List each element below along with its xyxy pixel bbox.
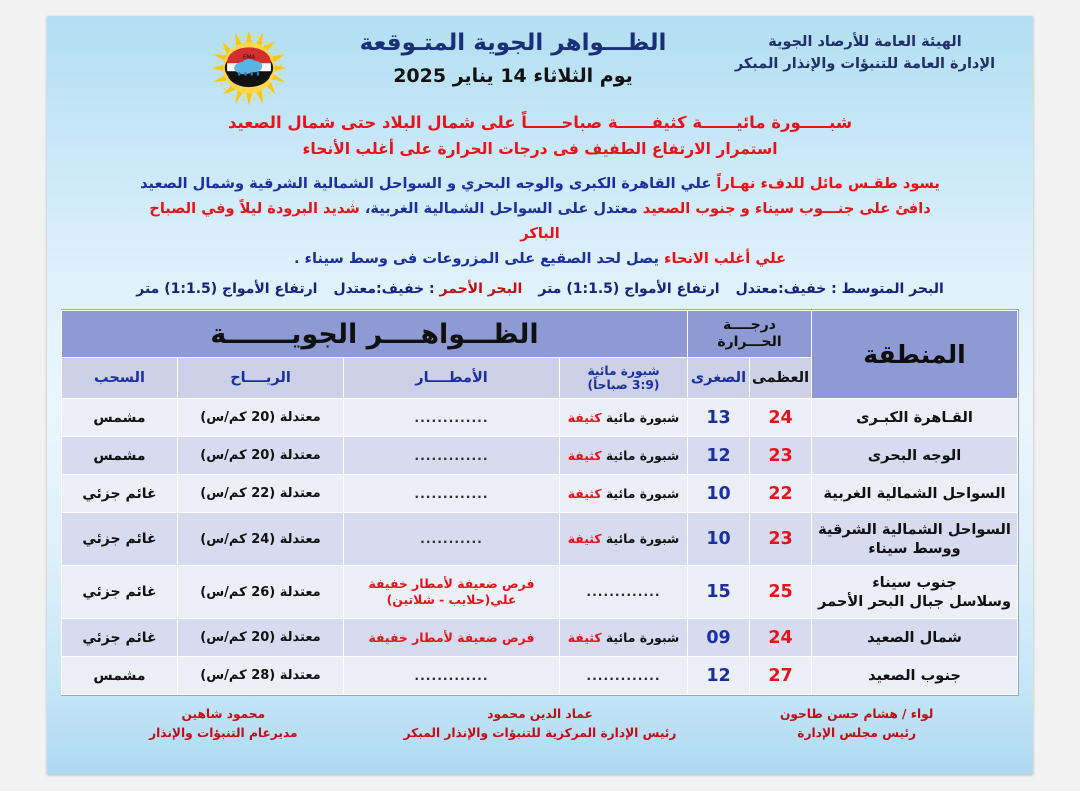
cell-fog: ............. (560, 657, 688, 695)
mediterranean-waves: ارتفاع الأمواج (1:1.5) متر (538, 281, 719, 297)
cell-region: جنوب الصعيد (812, 657, 1018, 695)
cell-rain: فرص ضعيفة لأمطار خفيفة (344, 619, 560, 657)
cell-min-temp: 15 (688, 566, 750, 619)
cell-wind: معتدلة (24 كم/س) (178, 513, 344, 566)
table-header-groups: المنطقة درجــــة الحـــرارة الظـــواهـــ… (61, 311, 1017, 358)
cell-max-temp: 27 (750, 657, 812, 695)
right-signer-role: مديرعام التنبؤات والإنذار (65, 724, 382, 743)
cell-fog: شبورة مائية كثيفة (560, 619, 688, 657)
cell-region: القـاهرة الكبـرى (812, 399, 1018, 437)
desc-1-blue: علي القاهرة الكبرى والوجه البحري و السوا… (140, 175, 716, 192)
column-header-cloud: السحب (61, 358, 177, 399)
cell-rain: ............. (344, 437, 560, 475)
right-signer-name: محمود شاهين (65, 705, 382, 724)
cell-wind: معتدلة (28 كم/س) (178, 657, 344, 695)
cell-max-temp: 24 (750, 399, 812, 437)
cell-fog: شبورة مائية كثيفة (560, 437, 688, 475)
table-row: السواحل الشمالية الغربية2210شبورة مائية … (61, 475, 1017, 513)
cell-rain: ............. (344, 657, 560, 695)
forecast-date: يوم الثلاثاء 14 يناير 2025 (303, 65, 723, 87)
cell-min-temp: 12 (688, 657, 750, 695)
mediterranean-label: البحر المتوسط : خفيف:معتدل (736, 281, 944, 297)
cell-max-temp: 23 (750, 513, 812, 566)
column-header-min-temp: الصغرى (688, 358, 750, 399)
warning-block: شبـــــورة مائيــــــة كثيفــــــة صباحـ… (47, 110, 1033, 162)
cell-cloud: غائم جزئي (61, 475, 177, 513)
cell-region: السواحل الشمالية الشرقيةووسط سيناء (812, 513, 1018, 566)
cell-min-temp: 10 (688, 475, 750, 513)
description-line-3: علي أغلب الانحاء يصل لحد الصقيع على المز… (135, 246, 945, 271)
cell-cloud: مشمس (61, 657, 177, 695)
org-line-1: الهيئة العامة للأرصاد الجوية (715, 32, 1015, 54)
table-row: القـاهرة الكبـرى2413شبورة مائية كثيفة...… (61, 399, 1017, 437)
cell-region: جنوب سيناءوسلاسل جبال البحر الأحمر (812, 566, 1018, 619)
signature-left: لواء / هشام حسن طاحون رئيس مجلس الإدارة (698, 705, 1015, 743)
desc-2-red: دافئ على جنـــوب سيناء و جنوب الصعيد (643, 200, 931, 217)
cell-region: الوجه البحرى (812, 437, 1018, 475)
redsea-waves: ارتفاع الأمواج (1:1.5) متر (136, 281, 317, 297)
fog-header-line-1: شبورة مائية (560, 364, 687, 379)
redsea-state: : خفيف:معتدل (333, 281, 439, 297)
description-line-1: يسود طقـس مائل للدفء نهـاراً علي القاهرة… (135, 171, 945, 196)
forecast-table-wrapper: المنطقة درجــــة الحـــرارة الظـــواهـــ… (61, 309, 1019, 696)
column-header-max-temp: العظمى (750, 358, 812, 399)
cell-wind: معتدلة (20 كم/س) (178, 619, 344, 657)
org-line-2: الإدارة العامة للتنبؤات والإنذار المبكر (715, 54, 1015, 76)
cell-wind: معتدلة (20 كم/س) (178, 437, 344, 475)
cell-fog: شبورة مائية كثيفة (560, 513, 688, 566)
cell-region: السواحل الشمالية الغربية (812, 475, 1018, 513)
ema-sun-cloud-logo: EMA (210, 29, 288, 107)
page-title: الظـــواهر الجوية المتـوقعة (303, 30, 723, 56)
cell-wind: معتدلة (26 كم/س) (178, 566, 344, 619)
cell-min-temp: 13 (688, 399, 750, 437)
desc-3-red: علي أغلب الانحاء (664, 250, 786, 267)
svg-text:EMA: EMA (243, 55, 255, 61)
temp-group-line-2: الحـــرارة (688, 334, 811, 351)
desc-2-blue: معتدل على السواحل الشمالية الغربية، (360, 200, 643, 217)
cell-cloud: غائم جزئي (61, 513, 177, 566)
cell-rain: ............. (344, 399, 560, 437)
column-group-temperature: درجــــة الحـــرارة (688, 311, 812, 358)
cell-min-temp: 09 (688, 619, 750, 657)
column-header-rain: الأمطــــار (344, 358, 560, 399)
cell-fog: شبورة مائية كثيفة (560, 399, 688, 437)
table-head: المنطقة درجــــة الحـــرارة الظـــواهـــ… (61, 311, 1017, 399)
cell-rain: ........... (344, 513, 560, 566)
redsea-label: البحر الأحمر (440, 281, 523, 297)
cell-min-temp: 12 (688, 437, 750, 475)
table-body: القـاهرة الكبـرى2413شبورة مائية كثيفة...… (61, 399, 1017, 695)
table-row: شمال الصعيد2409شبورة مائية كثيفةفرص ضعيف… (61, 619, 1017, 657)
cell-cloud: مشمس (61, 437, 177, 475)
column-group-phenomena: الظـــواهــــر الجويـــــــة (61, 311, 687, 358)
title-block: الظـــواهر الجوية المتـوقعة يوم الثلاثاء… (303, 30, 723, 87)
cell-cloud: مشمس (61, 399, 177, 437)
document-header: الهيئة العامة للأرصاد الجوية الإدارة الع… (47, 16, 1033, 108)
column-header-wind: الريــــاح (178, 358, 344, 399)
cell-max-temp: 22 (750, 475, 812, 513)
signature-center: عماد الدين محمود رئيس الإدارة المركزية ل… (382, 705, 699, 743)
cell-fog: شبورة مائية كثيفة (560, 475, 688, 513)
cell-cloud: غائم جزئي (61, 619, 177, 657)
description-line-2: دافئ على جنـــوب سيناء و جنوب الصعيد معت… (135, 196, 945, 246)
warning-line-2: استمرار الارتفاع الطفيف فى درجات الحرارة… (87, 137, 993, 162)
desc-1-red: يسود طقـس مائل للدفء نهـاراً (716, 175, 939, 192)
column-header-region: المنطقة (812, 311, 1018, 399)
table-row: الوجه البحرى2312شبورة مائية كثيفة.......… (61, 437, 1017, 475)
column-header-fog: شبورة مائية (3:9 صباحاً) (560, 358, 688, 399)
cell-fog: ............. (560, 566, 688, 619)
center-signer-name: عماد الدين محمود (382, 705, 699, 724)
cell-max-temp: 23 (750, 437, 812, 475)
sea-conditions: البحر المتوسط : خفيف:معتدلارتفاع الأمواج… (47, 281, 1033, 297)
warning-line-1: شبـــــورة مائيــــــة كثيفــــــة صباحـ… (87, 110, 993, 137)
cell-max-temp: 24 (750, 619, 812, 657)
cell-wind: معتدلة (20 كم/س) (178, 399, 344, 437)
cell-rain: ............. (344, 475, 560, 513)
table-row: جنوب سيناءوسلاسل جبال البحر الأحمر2515..… (61, 566, 1017, 619)
table-row: جنوب الصعيد2712.........................… (61, 657, 1017, 695)
signature-right: محمود شاهين مديرعام التنبؤات والإنذار (65, 705, 382, 743)
desc-3-blue: يصل لحد الصقيع على المزروعات فى وسط سينا… (294, 250, 664, 267)
forecast-description: يسود طقـس مائل للدفء نهـاراً علي القاهرة… (47, 171, 1033, 271)
organization-block: الهيئة العامة للأرصاد الجوية الإدارة الع… (715, 32, 1015, 76)
cell-wind: معتدلة (22 كم/س) (178, 475, 344, 513)
temp-group-line-1: درجــــة (688, 317, 811, 334)
cell-region: شمال الصعيد (812, 619, 1018, 657)
forecast-sheet: الهيئة العامة للأرصاد الجوية الإدارة الع… (47, 16, 1033, 774)
cell-rain: فرص ضعيفة لأمطار خفيفةعلي(حلايب - شلاتين… (344, 566, 560, 619)
left-signer-name: لواء / هشام حسن طاحون (698, 705, 1015, 724)
table-row: السواحل الشمالية الشرقيةووسط سيناء2310شب… (61, 513, 1017, 566)
center-signer-role: رئيس الإدارة المركزية للتنبؤات والإنذار … (382, 724, 699, 743)
signature-footer: لواء / هشام حسن طاحون رئيس مجلس الإدارة … (65, 705, 1015, 743)
cell-max-temp: 25 (750, 566, 812, 619)
cell-min-temp: 10 (688, 513, 750, 566)
left-signer-role: رئيس مجلس الإدارة (698, 724, 1015, 743)
fog-header-line-2: (3:9 صباحاً) (560, 378, 687, 393)
cell-cloud: غائم جزئي (61, 566, 177, 619)
forecast-table: المنطقة درجــــة الحـــرارة الظـــواهـــ… (61, 310, 1018, 695)
